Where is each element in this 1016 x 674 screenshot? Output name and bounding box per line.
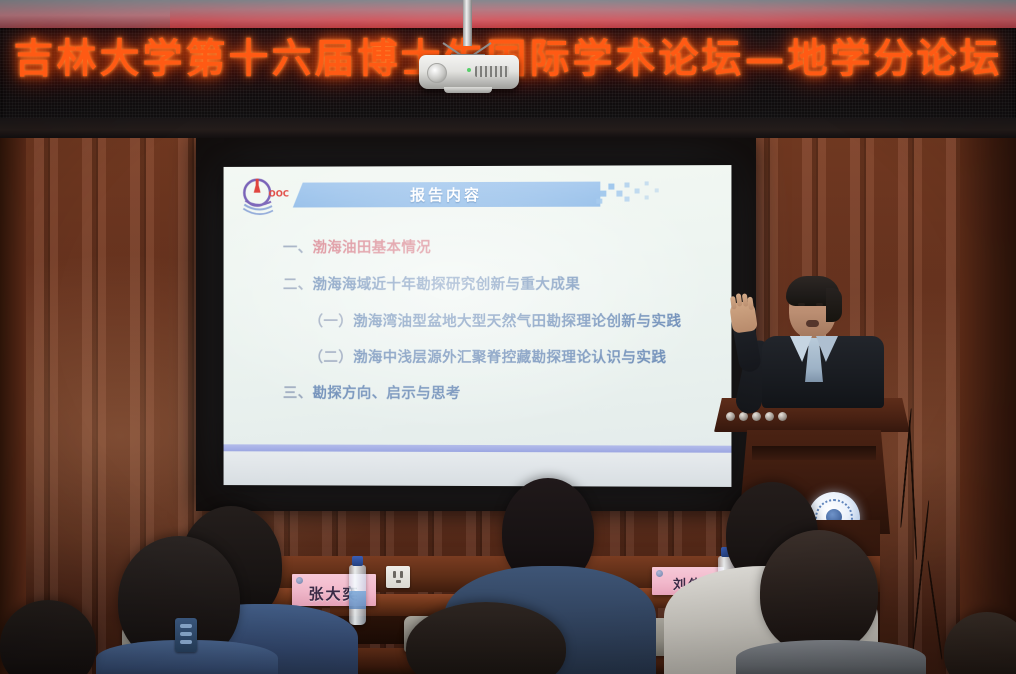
slide-body: 一、渤海油田基本情况 二、渤海海域近十年勘探研究创新与重大成果 （一）渤海湾油型… [224, 217, 732, 218]
slide-line-4: （二）渤海中浅层源外汇聚脊控藏勘探理论认识与实践 [309, 346, 667, 367]
slide-line-3-text: 渤海湾油型盆地大型天然气田勘探理论创新与实践 [353, 314, 681, 330]
wall-edge-right [960, 136, 1016, 674]
wall-power-outlet [386, 566, 410, 588]
slide-line-5-number: 三、 [283, 386, 313, 402]
bottle-cap-left [352, 556, 363, 566]
speaker-mouth [806, 320, 819, 327]
wall-edge-left [0, 136, 26, 674]
slide-line-2-text: 渤海海域近十年勘探研究创新与重大成果 [312, 277, 580, 293]
slide-line-5-text: 勘探方向、启示与思考 [312, 386, 460, 402]
lectern-control-buttons[interactable] [726, 412, 788, 422]
projector-vents [475, 66, 509, 77]
audience-head-right-front [760, 530, 878, 654]
slide-line-1-text: 渤海油田基本情况 [312, 240, 431, 256]
slide-line-3-number: （一） [309, 314, 353, 330]
slide-line-5: 三、勘探方向、启示与思考 [283, 382, 461, 403]
speaker-eye-left [798, 303, 805, 306]
speaker-raised-hand [729, 300, 758, 333]
slide-line-3: （一）渤海湾油型盆地大型天然气田勘探理论创新与实践 [309, 310, 682, 331]
cnooc-logo-icon: OOC [237, 176, 290, 216]
projector-base-plate [444, 87, 492, 93]
projector-power-led [467, 68, 471, 72]
slide-pixel-decoration [594, 179, 715, 209]
speaker-hair-side [826, 288, 842, 322]
slide-title: 报告内容 [293, 184, 601, 207]
led-banner-lip [0, 118, 1016, 138]
projector-icon [419, 55, 519, 89]
slide-line-4-text: 渤海中浅层源外汇聚脊控藏勘探理论认识与实践 [353, 350, 666, 366]
projector-lens-icon [427, 63, 447, 83]
hair-clip-accessory [175, 618, 197, 652]
slide-line-4-number: （二） [309, 350, 353, 366]
slide-line-1: 一、渤海油田基本情况 [283, 236, 431, 257]
audience-shoulders-right-front [736, 640, 926, 674]
svg-text:OOC: OOC [269, 189, 289, 199]
bottle-label-left [349, 591, 366, 609]
lectern-front-lip [752, 446, 876, 460]
projection-screen: OOC 报告内容 一、渤海油田基本情况 二、渤海海域近十年勘探研究创新与重大成果 [224, 165, 732, 487]
lecture-hall-scene: OOC 报告内容 一、渤海油田基本情况 二、渤海海域近十年勘探研究创新与重大成果 [0, 0, 1016, 674]
slide-line-2-number: 二、 [283, 277, 313, 293]
speaker-eye-right [816, 303, 823, 306]
slide-line-2: 二、渤海海域近十年勘探研究创新与重大成果 [283, 273, 580, 294]
water-bottle-left [349, 565, 366, 625]
slide-line-1-number: 一、 [283, 240, 313, 256]
slide-footer-area [224, 451, 732, 487]
